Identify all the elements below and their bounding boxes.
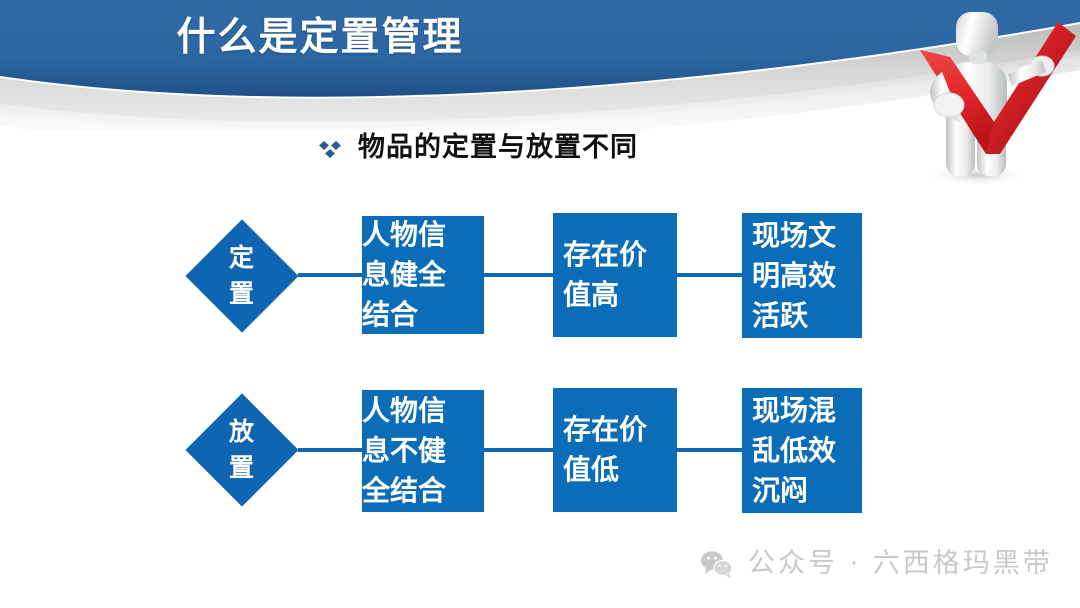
node-r1-c1[interactable]: 人物信 息健全 结合 (362, 216, 484, 334)
node-r1-c1-label: 人物信 息健全 结合 (362, 215, 484, 335)
diamond-label: 定 置 (229, 240, 255, 312)
diamond-node-dingzhi[interactable]: 定 置 (185, 219, 298, 332)
watermark: 公众号 · 六西格玛黑带 (700, 548, 1053, 580)
node-r1-c2-label: 存在价 值高 (563, 235, 677, 315)
node-r2-c2-label: 存在价 值低 (563, 410, 677, 490)
process-diagram: 定 置 人物信 息健全 结合 存在价 值高 现场文 明高效 活跃 放 置 人物信… (0, 0, 1080, 608)
connector-r2-diamond-to-c1 (298, 448, 364, 452)
connector-r2-c1-to-c2 (483, 448, 555, 452)
connector-r1-diamond-to-c1 (298, 273, 364, 277)
diamond-label: 放 置 (229, 414, 255, 486)
node-r2-c1-label: 人物信 息不健 全结合 (362, 391, 484, 511)
wechat-icon (700, 549, 734, 579)
node-r2-c2[interactable]: 存在价 值低 (553, 388, 677, 512)
connector-r2-c2-to-c3 (676, 448, 744, 452)
node-r2-c3[interactable]: 现场混 乱低效 沉闷 (742, 388, 862, 513)
node-r2-c3-label: 现场混 乱低效 沉闷 (752, 391, 862, 511)
watermark-text: 公众号 · 六西格玛黑带 (748, 548, 1053, 580)
diamond-node-fangzhi[interactable]: 放 置 (185, 393, 298, 506)
node-r2-c1[interactable]: 人物信 息不健 全结合 (362, 390, 484, 512)
connector-r1-c2-to-c3 (676, 273, 744, 277)
connector-r1-c1-to-c2 (483, 273, 555, 277)
node-r1-c3-label: 现场文 明高效 活跃 (752, 216, 862, 336)
node-r1-c3[interactable]: 现场文 明高效 活跃 (742, 213, 862, 338)
slide-canvas: 什么是定置管理 (0, 0, 1080, 608)
node-r1-c2[interactable]: 存在价 值高 (553, 213, 677, 337)
